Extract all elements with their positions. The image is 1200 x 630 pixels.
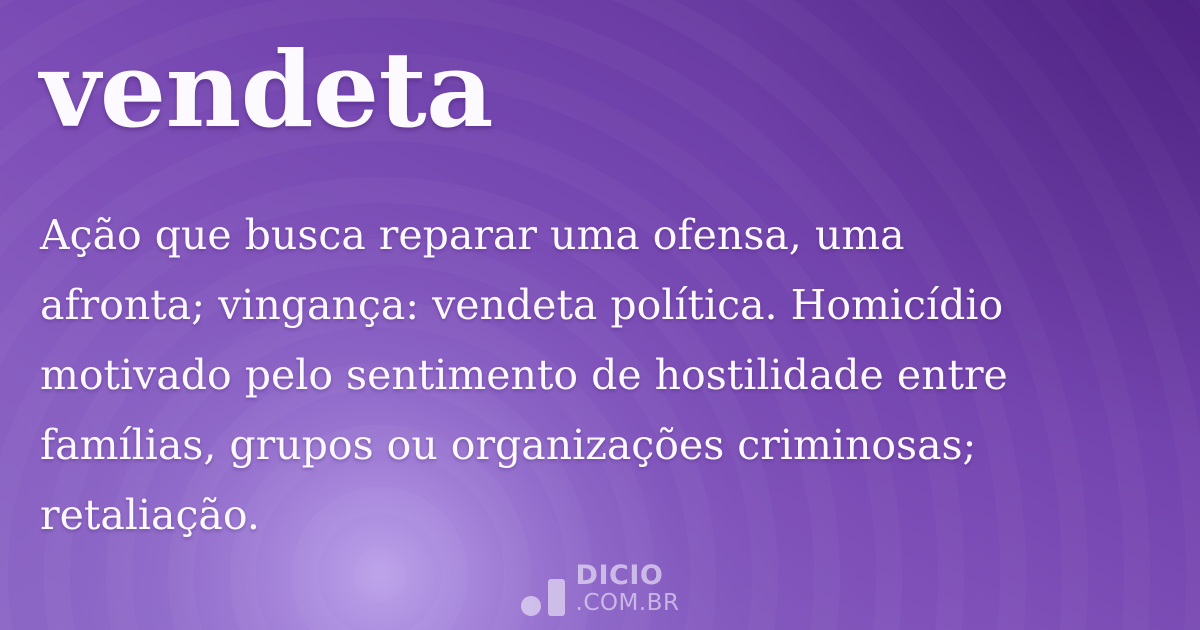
brand-wordmark: DICIO .COM.BR	[576, 562, 680, 616]
definition-text: Ação que busca reparar uma ofensa, uma a…	[40, 200, 1040, 550]
page-title: vendeta	[40, 34, 493, 146]
card-content: vendeta Ação que busca reparar uma ofens…	[0, 0, 1200, 630]
brand-dot-icon	[521, 596, 541, 616]
brand-name-label: DICIO	[576, 562, 680, 590]
brand-logo: DICIO .COM.BR	[0, 562, 1200, 616]
brand-mark-icon	[521, 578, 565, 616]
brand-tld-label: .COM.BR	[576, 591, 680, 615]
brand-bar-icon	[548, 579, 565, 616]
dictionary-share-card: vendeta Ação que busca reparar uma ofens…	[0, 0, 1200, 630]
